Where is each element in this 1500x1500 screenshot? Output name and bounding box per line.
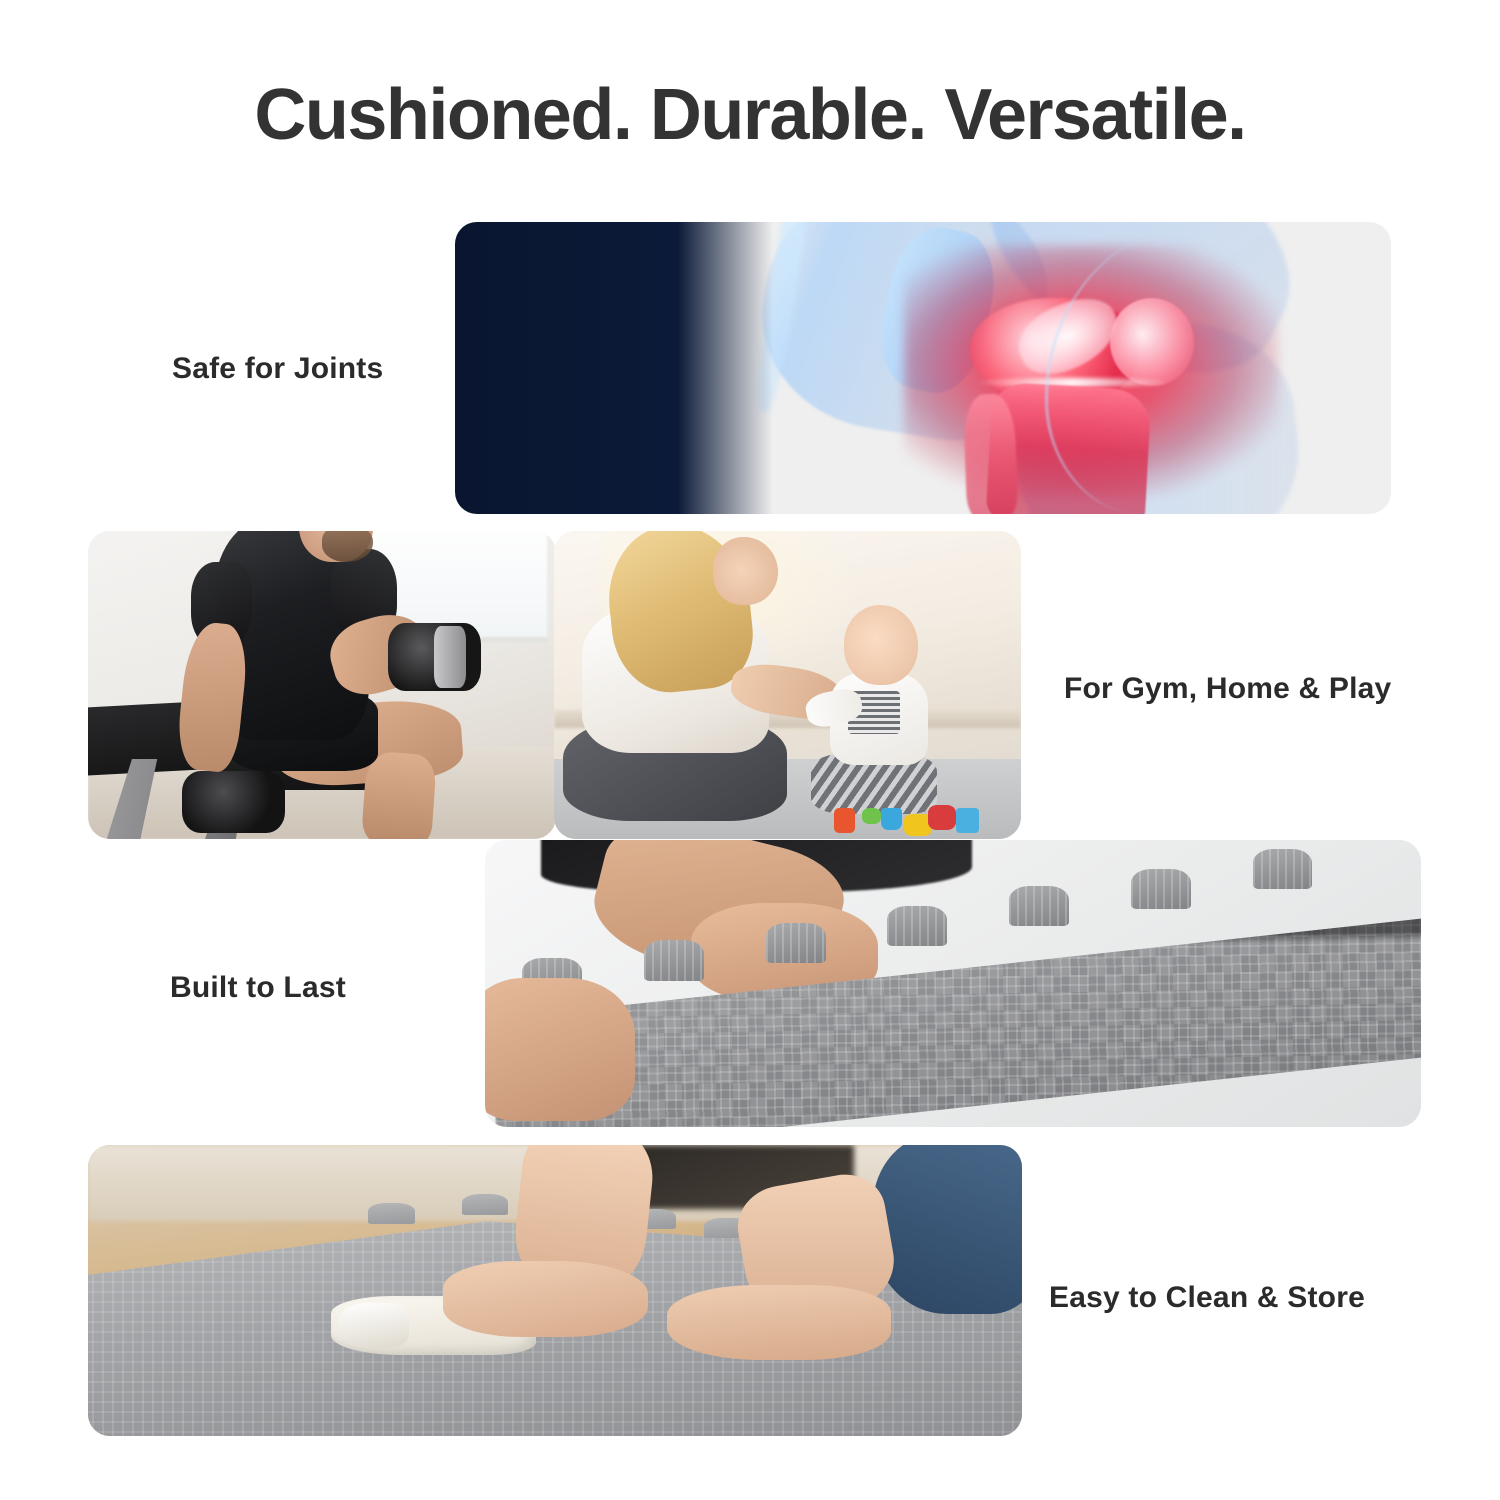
gym-photo <box>88 531 556 839</box>
feature-label-safe-for-joints: Safe for Joints <box>172 352 383 386</box>
feature-image-built-to-last <box>485 840 1421 1127</box>
page-title: Cushioned. Durable. Versatile. <box>0 78 1500 154</box>
hand-right-resting <box>667 1285 891 1361</box>
mother-and-baby-photo <box>554 531 1021 839</box>
dumbbell-lower <box>182 771 285 833</box>
hand-lower <box>485 978 635 1122</box>
baby-head <box>844 605 919 685</box>
toy-red-rattle <box>928 805 956 830</box>
mother-face <box>713 537 778 605</box>
toy-block-red <box>834 808 855 833</box>
infographic-page: Cushioned. Durable. Versatile. Safe for … <box>0 0 1500 1500</box>
feature-label-for-gym-home-play: For Gym, Home & Play <box>1064 672 1391 706</box>
feature-image-gym-workout <box>88 531 556 839</box>
interlocking-mat-photo <box>485 840 1421 1127</box>
feature-label-easy-to-clean-and-store: Easy to Clean & Store <box>1049 1281 1365 1315</box>
feature-image-safe-for-joints <box>455 222 1391 514</box>
feature-image-easy-to-clean <box>88 1145 1022 1436</box>
hand-left-wiping <box>443 1261 648 1337</box>
feature-label-built-to-last: Built to Last <box>170 971 346 1005</box>
mat-puzzle-tab <box>368 1203 415 1223</box>
mat-puzzle-tab <box>462 1194 509 1214</box>
xray-dark-area <box>455 222 773 514</box>
puzzle-tab <box>766 923 826 963</box>
toy-blue-block <box>956 808 979 833</box>
blue-jeans-knee <box>873 1145 1022 1314</box>
knee-xray-illustration <box>455 222 1391 514</box>
man-shin <box>361 750 437 839</box>
puzzle-tab <box>644 940 704 980</box>
dumbbell-upper <box>388 623 482 691</box>
toy-blue-cup <box>881 808 902 830</box>
puzzle-tab <box>1009 886 1069 926</box>
puzzle-tab <box>887 906 947 946</box>
puzzle-tab <box>1131 869 1191 909</box>
puzzle-tab <box>1253 849 1313 889</box>
feature-image-home-play <box>554 531 1021 839</box>
cleaning-mat-photo <box>88 1145 1022 1436</box>
toy-green <box>862 808 881 823</box>
